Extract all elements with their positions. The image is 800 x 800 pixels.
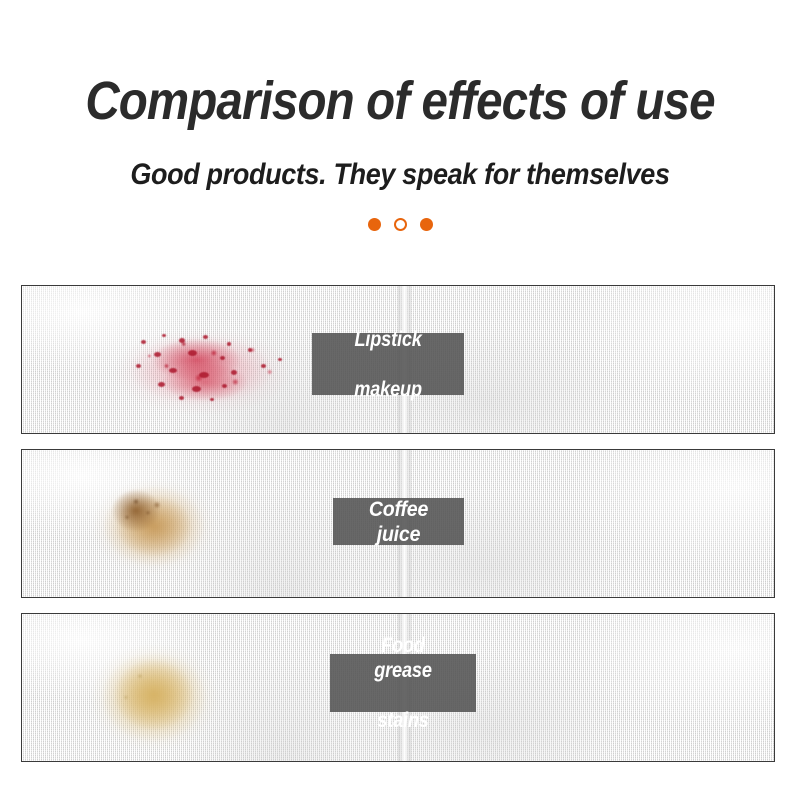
carousel-dot-3[interactable] [420, 218, 433, 231]
panel-label-grease: Food greasestains [330, 654, 476, 712]
panel-label-line-2: stains [354, 708, 453, 733]
comparison-page: Comparison of effects of use Good produc… [0, 0, 800, 800]
lipstick-stain [102, 320, 317, 420]
page-title: Comparison of effects of use [48, 72, 752, 130]
panel-label-line-1: Lipstick [354, 327, 422, 352]
panel-label-line-1: Food grease [354, 633, 453, 683]
page-subtitle: Good products. They speak for themselves [40, 158, 760, 192]
carousel-dot-2[interactable] [394, 218, 407, 231]
carousel-dots [0, 218, 800, 231]
panel-label-lipstick: Lipstickmakeup [312, 333, 464, 395]
carousel-dot-1[interactable] [368, 218, 381, 231]
panel-label-line-1: Coffee juice [352, 497, 444, 547]
panel-label-line-2: makeup [354, 377, 422, 402]
panel-label-coffee: Coffee juice [333, 498, 464, 545]
